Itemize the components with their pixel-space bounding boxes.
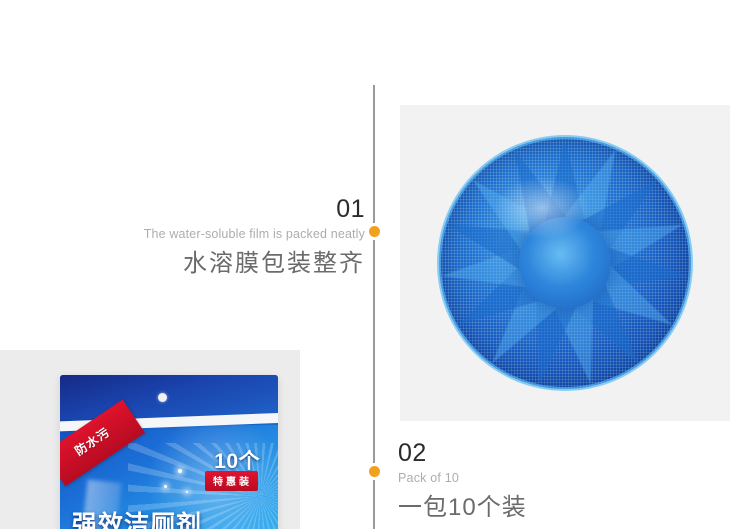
package-corner-flag-label: 防水污 <box>71 423 113 459</box>
package-sparkle <box>186 491 188 493</box>
feature-subtitle-en-02: Pack of 10 <box>398 470 698 486</box>
film-ball-graphic <box>439 137 691 389</box>
feature-number-01: 01 <box>60 196 365 222</box>
product-photo-package-bag: 10个 特惠装 强效洁厕剂 防水污 <box>0 350 300 529</box>
feature-subtitle-en-01: The water-soluble film is packed neatly <box>60 226 365 242</box>
feature-title-cn-02: 一包10个装 <box>398 493 698 523</box>
product-detail-page: 10个 特惠装 强效洁厕剂 防水污 01 The water-soluble f… <box>0 0 730 529</box>
package-sparkle <box>164 485 167 488</box>
feature-title-cn-01: 水溶膜包装整齐 <box>60 249 365 279</box>
package-promo-badge: 特惠装 <box>205 471 258 491</box>
package-product-name: 强效洁厕剂 <box>72 505 202 529</box>
feature-block-01: 01 The water-soluble film is packed neat… <box>60 196 365 279</box>
product-photo-water-soluble-ball <box>400 105 730 421</box>
feature-number-02: 02 <box>398 440 698 466</box>
package-top-strip <box>60 375 278 419</box>
feature-block-02: 02 Pack of 10 一包10个装 <box>398 440 698 523</box>
package-bag-graphic: 10个 特惠装 强效洁厕剂 防水污 <box>60 375 278 529</box>
timeline-vertical-line <box>373 85 375 529</box>
timeline-dot-02 <box>369 466 380 477</box>
package-hang-hole <box>158 393 167 402</box>
package-sparkle <box>178 469 182 473</box>
timeline-dot-01 <box>369 226 380 237</box>
